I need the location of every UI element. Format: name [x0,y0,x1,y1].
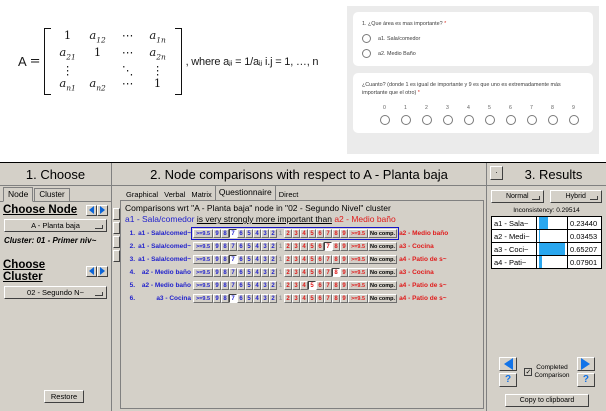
scale-cell[interactable]: 8 [332,268,340,277]
scale-cell[interactable]: 3 [261,242,269,251]
scale-cell[interactable]: No comp. [368,281,397,290]
choose-cluster-header: Choose Cluster [0,257,111,283]
matrix-cell: ⋯ [113,46,143,63]
scale-cell[interactable]: 6 [237,268,245,277]
scale-cell[interactable]: 4 [300,268,308,277]
scale-cell[interactable]: 7 [324,242,332,251]
scale-cell[interactable]: No comp. [368,268,397,277]
results-type-select[interactable]: Hybrid [550,190,603,203]
radio-icon[interactable] [401,115,411,125]
scale-cell[interactable]: 7 [324,255,332,264]
scale-cell[interactable]: 7 [229,255,237,264]
scale-cell[interactable]: 3 [261,255,269,264]
result-bar [539,243,565,255]
row-left-node: a1 - Sala/comed~ [135,227,191,240]
row-right-node: a4 - Patio de s~ [399,279,448,292]
scale-cell-equal[interactable]: 1 [277,229,284,238]
matrix-cell: an2 [83,77,113,94]
row-right-node: a4 - Patio de s~ [399,292,448,305]
scale-cell[interactable]: 9 [213,294,221,303]
scale-cell[interactable]: 9 [213,242,221,251]
radio-icon[interactable] [422,115,432,125]
scale-cell[interactable]: 4 [300,281,308,290]
scale-label: 2 [416,105,437,111]
matrix-cell: ⋯ [113,77,143,94]
arrow-left-icon [504,358,513,370]
scale-cell[interactable]: 6 [316,242,324,251]
row-scale: >=9.598765432123456789>=9.5No comp. [191,240,399,253]
scale-cell[interactable]: 4 [300,229,308,238]
scale-label: 3 [437,105,458,111]
scale-cell[interactable]: 7 [324,268,332,277]
scale-cell[interactable]: >=9.5 [348,281,368,290]
scale-cell-equal[interactable]: 1 [277,242,284,251]
statement-relation: is very strongly more important than [197,214,332,224]
scale-cell[interactable]: 3 [292,255,300,264]
scale-cell[interactable]: 4 [253,229,261,238]
panel-body: Node Cluster Choose Node A - Planta baja… [0,186,606,411]
scale-cell[interactable]: 2 [269,281,277,290]
scale-cell[interactable]: 6 [237,294,245,303]
results-type-value: Hybrid [566,193,586,200]
matrix: 1 a12 ⋯ a1n a21 1 ⋯ a2n ⋮ ⋱ [44,28,182,95]
scale-cell[interactable]: 2 [284,255,292,264]
question-mark-left-icon: ? [505,375,511,385]
radio-icon[interactable] [380,115,390,125]
scale-cell[interactable]: 6 [316,281,324,290]
scale-cell[interactable]: 9 [340,229,348,238]
statement-right-node: a2 - Medio baño [334,214,395,224]
tab-matrix[interactable]: Matrix [188,189,214,200]
scale-cell[interactable]: 9 [340,294,348,303]
dropdown-handle-icon [532,196,540,200]
scale-cell[interactable]: 5 [308,229,316,238]
results-selects: Normal Hybrid [491,190,602,203]
scale-cell[interactable]: 3 [261,229,269,238]
bracket-left [44,28,51,95]
scale-cell[interactable]: 2 [269,255,277,264]
comparison-statement-line: a1 - Sala/comedor is very strongly more … [121,213,483,226]
checkbox-icon[interactable]: ✓ [524,368,532,376]
scale-cell[interactable]: 5 [245,229,253,238]
scale-cell[interactable]: 7 [229,242,237,251]
row-right-node: a4 - Patio de s~ [399,253,448,266]
table-row: 1.a1 - Sala/comed~>=9.598765432123456789… [123,227,448,240]
scale-cell[interactable]: 2 [284,294,292,303]
scale-cell[interactable]: 8 [221,255,229,264]
scale-cell[interactable]: 6 [237,281,245,290]
scale-cell[interactable]: 2 [284,268,292,277]
table-row: 4.a2 - Medio baño>=9.598765432123456789>… [123,266,448,279]
scale-cell[interactable]: 2 [269,268,277,277]
minimize-button[interactable]: · [490,166,503,180]
scale-strip: >=9.598765432123456789>=9.5No comp. [191,240,399,253]
scale-cell[interactable]: >=9.5 [348,229,368,238]
dropdown-handle-icon [95,292,103,296]
choose-panel: Node Cluster Choose Node A - Planta baja… [0,186,112,411]
matrix-row: ⋮ ⋱ ⋮ [53,64,173,77]
scale-cell[interactable]: 6 [316,294,324,303]
row-left-node: a3 - Cocina [135,292,191,305]
scale-cell[interactable]: 4 [253,294,261,303]
current-cluster-note: Cluster: 01 - Primer niv~ [4,236,107,245]
scale-cell[interactable]: 6 [316,255,324,264]
row-right-node: a3 - Cocina [399,266,448,279]
panel-headers: 1. Choose 2. Node comparisons with respe… [0,163,606,186]
results-mode-select[interactable]: Normal [491,190,544,203]
scale-cell[interactable]: 4 [300,242,308,251]
scale-cell[interactable]: >=9.5 [193,268,213,277]
tab-node[interactable]: Node [3,187,33,202]
scale-cell[interactable]: 5 [308,268,316,277]
scale-cell[interactable]: 7 [229,268,237,277]
formula-where-clause: , where aⱼᵢ = 1/aᵢⱼ i.j = 1, …, n [186,55,319,68]
tab-cluster[interactable]: Cluster [34,188,69,201]
scale-radio-cell[interactable] [563,115,584,125]
scale-cell[interactable]: 5 [245,255,253,264]
radio-icon[interactable] [506,115,516,125]
scale-cell[interactable]: >=9.5 [348,268,368,277]
scale-cell[interactable]: 9 [340,281,348,290]
scale-cell[interactable]: 3 [292,268,300,277]
scale-cell[interactable]: 5 [245,268,253,277]
result-value: 0.03453 [568,230,602,243]
scale-cell[interactable]: No comp. [368,294,397,303]
matrix-cell: an1 [53,77,83,94]
scale-cell[interactable]: >=9.5 [193,255,213,264]
scale-cell[interactable]: 5 [245,281,253,290]
superdecisions-window: 1. Choose 2. Node comparisons with respe… [0,162,606,411]
scale-cell[interactable]: >=9.5 [193,281,213,290]
result-value: 0.07901 [568,256,602,269]
scale-label: 5 [479,105,500,111]
result-name: a2 - Medi~ [492,230,537,243]
choose-node-label: Choose Node [3,204,77,216]
row-number: 4. [123,266,135,279]
scale-cell[interactable]: 9 [340,268,348,277]
scale-cell[interactable]: 6 [316,229,324,238]
tab-graphical[interactable]: Graphical [123,189,161,200]
scale-cell[interactable]: 2 [269,294,277,303]
scale-cell[interactable]: 6 [237,229,245,238]
scale-radio-cell[interactable] [542,115,563,125]
survey-form: 1. ¿Que área es mas importante? * a1. Sa… [347,6,599,154]
scale-strip: >=9.598765432123456789>=9.5No comp. [191,266,399,279]
scale-cell[interactable]: 7 [229,281,237,290]
cluster-nav-arrows [86,266,108,277]
survey-option-a2[interactable]: a2. Medio Baño [362,49,584,58]
result-name: a4 - Pati~ [492,256,537,269]
scale-cell[interactable]: 3 [292,281,300,290]
restore-button[interactable]: Restore [44,390,84,403]
matrix-cell: a1n [143,29,173,46]
gutter-button[interactable] [113,222,120,234]
equals-sign: = [30,54,41,69]
scale-radio-cell[interactable] [479,115,500,125]
scale-cell[interactable]: 2 [284,242,292,251]
scale-cell[interactable]: 5 [308,255,316,264]
scale-cell[interactable]: 7 [324,294,332,303]
question-mark-right-icon: ? [583,375,589,385]
survey-option-a1-label: a1. Sala/comedor [378,36,420,42]
matrix-cell: 1 [53,29,83,46]
scale-cell[interactable]: >=9.5 [193,242,213,251]
scale-cell[interactable]: 9 [340,255,348,264]
scale-label: 6 [500,105,521,111]
scale-cell-equal[interactable]: 1 [277,255,284,264]
scale-cell[interactable]: >=9.5 [348,255,368,264]
completed-comparison-checkbox[interactable]: ✓ Completed Comparison [524,364,569,380]
scale-cell-equal[interactable]: 1 [277,281,284,290]
scale-cell-equal[interactable]: 1 [277,268,284,277]
scale-cell[interactable]: 8 [332,281,340,290]
tab-questionnaire[interactable]: Questionnaire [215,185,276,200]
scale-radio-cell[interactable] [437,115,458,125]
panel-header-choose: 1. Choose [0,163,112,185]
matrix-rows: 1 a12 ⋯ a1n a21 1 ⋯ a2n ⋮ ⋱ [51,28,175,95]
row-left-node: a1 - Sala/comed~ [135,253,191,266]
row-number: 3. [123,253,135,266]
scale-label: 4 [458,105,479,111]
choose-tabstrip: Node Cluster [0,186,111,202]
matrix-cell: ⋮ [143,64,173,77]
matrix-cell: 1 [83,46,113,63]
required-asterisk: * [418,90,420,96]
node-select-value: A - Planta baja [31,221,80,230]
panel-header-results-label: 3. Results [525,167,583,182]
scale-cell[interactable]: >=9.5 [193,229,213,238]
comparison-questionnaire: Comparisons wrt "A - Planta baja" node i… [120,200,484,409]
row-scale: >=9.598765432123456789>=9.5No comp. [191,253,399,266]
gutter-button[interactable] [113,236,120,248]
results-table: a1 - Sala~0.23440a2 - Medi~0.03453a3 - C… [491,216,602,269]
scale-cell[interactable]: 4 [300,294,308,303]
scale-cell[interactable]: 8 [221,268,229,277]
scale-radio-cell[interactable] [500,115,521,125]
radio-icon[interactable] [548,115,558,125]
table-row: 5.a2 - Medio baño>=9.598765432123456789>… [123,279,448,292]
arrow-right-icon [100,206,105,214]
scale-cell[interactable]: 4 [253,268,261,277]
next-comparison-button[interactable] [577,357,595,371]
question1-text: 1. ¿Que área es mas importante? [362,21,443,27]
scale-cell[interactable]: 9 [213,281,221,290]
scale-cell[interactable]: 5 [245,242,253,251]
cluster-prev-button[interactable] [86,266,97,277]
survey-option-a1[interactable]: a1. Sala/comedor [362,34,584,43]
scale-cell[interactable]: 5 [308,281,316,290]
result-bar [539,230,540,242]
question2-text: ¿Cuanto? (donde 1 es igual de importante… [362,82,561,96]
radio-icon[interactable] [443,115,453,125]
comparison-table: 1.a1 - Sala/comed~>=9.598765432123456789… [123,227,448,305]
scale-cell[interactable]: 8 [221,242,229,251]
scale-cell[interactable]: 6 [237,255,245,264]
survey-question-1-card: 1. ¿Que área es mas importante? * a1. Sa… [353,12,593,66]
prev-help-button[interactable]: ? [499,373,517,387]
radio-icon[interactable] [485,115,495,125]
scale-strip: >=9.598765432123456789>=9.5No comp. [191,227,399,240]
scale-radio-cell[interactable] [395,115,416,125]
scale-cell[interactable]: 7 [229,294,237,303]
scale-cell[interactable]: 6 [237,242,245,251]
scale-cell[interactable]: 6 [316,268,324,277]
result-bar [539,256,542,268]
matrix-cell: ⋮ [53,64,83,77]
scale-cell[interactable]: No comp. [368,242,397,251]
cluster-next-button[interactable] [97,266,108,277]
comparison-side-gutter [112,186,120,411]
scale-cell[interactable]: 3 [292,229,300,238]
completed-comparison-label: Completed Comparison [534,364,569,380]
scale-cell[interactable]: 3 [292,294,300,303]
matrix-row: a21 1 ⋯ a2n [53,46,173,63]
scale-cell[interactable]: >=9.5 [193,294,213,303]
gutter-button[interactable] [113,250,120,262]
scale-cell[interactable]: 9 [340,242,348,251]
scale-cell[interactable]: 7 [324,229,332,238]
nav-left-column: ? [499,357,517,387]
scale-strip: >=9.598765432123456789>=9.5No comp. [191,253,399,266]
matrix-symbol-A: A [18,54,27,69]
scale-label: 1 [395,105,416,111]
scale-cell[interactable]: 4 [253,255,261,264]
scale-cell[interactable]: 8 [221,294,229,303]
scale-cell[interactable]: 3 [292,242,300,251]
scale-strip: >=9.598765432123456789>=9.5No comp. [191,279,399,292]
scale-cell[interactable]: 9 [213,268,221,277]
scale-cell[interactable]: 4 [253,281,261,290]
node-prev-button[interactable] [86,205,97,216]
scale-cell[interactable]: 3 [261,281,269,290]
scale-label: 0 [374,105,395,111]
panel-header-comparisons: 2. Node comparisons with respect to A - … [112,163,487,185]
scale-cell[interactable]: 5 [308,242,316,251]
scale-cell[interactable]: 7 [229,229,237,238]
radio-icon[interactable] [362,49,371,58]
scale-cell[interactable]: 3 [261,268,269,277]
scale-cell[interactable]: 4 [300,255,308,264]
scale-radio-cell[interactable] [521,115,542,125]
scale-cell[interactable]: >=9.5 [348,294,368,303]
comparison-panel: Graphical Verbal Matrix Questionnaire Di… [112,186,487,411]
next-help-button[interactable]: ? [577,373,595,387]
scale-cell[interactable]: 8 [332,255,340,264]
result-bar [539,217,548,229]
scale-label: 7 [521,105,542,111]
scale-cell[interactable]: 8 [332,229,340,238]
dropdown-handle-icon [590,196,598,200]
result-bar-cell [537,217,568,230]
gutter-button[interactable] [113,208,120,220]
table-row: a3 - Coci~0.65207 [492,243,602,256]
scale-strip: >=9.598765432123456789>=9.5No comp. [191,292,399,305]
matrix-cell: 1 [143,77,173,94]
scale-cell[interactable]: >=9.5 [348,242,368,251]
results-panel: Normal Hybrid Inconsistency: 0.29514 a1 … [487,186,606,411]
scale-label: 8 [542,105,563,111]
scale-cell[interactable]: No comp. [368,229,397,238]
matrix-cell: ⋱ [113,64,143,77]
scale-cell[interactable]: 8 [332,242,340,251]
matrix-row: 1 a12 ⋯ a1n [53,29,173,46]
scale-cell[interactable]: 2 [269,242,277,251]
radio-icon[interactable] [527,115,537,125]
scale-cell[interactable]: 2 [284,281,292,290]
nav-right-column: ? [577,357,595,387]
matrix-row: an1 an2 ⋯ 1 [53,77,173,94]
row-right-node: a2 - Medio baño [399,227,448,240]
radio-icon[interactable] [569,115,579,125]
scale-cell[interactable]: 5 [308,294,316,303]
scale-label: 9 [563,105,584,111]
scale-cell[interactable]: 2 [269,229,277,238]
scale-cell[interactable]: 4 [253,242,261,251]
result-bar-cell [537,256,568,269]
scale-cell[interactable]: 7 [324,281,332,290]
node-select[interactable]: A - Planta baja [4,219,107,232]
arrow-right-icon [100,267,105,275]
results-mode-value: Normal [506,193,529,200]
inconsistency-value: Inconsistency: 0.29514 [491,207,602,214]
scale-cell[interactable]: 9 [213,255,221,264]
scale-radio-cell[interactable] [374,115,395,125]
row-scale: >=9.598765432123456789>=9.5No comp. [191,279,399,292]
comparison-mode-tabs: Graphical Verbal Matrix Questionnaire Di… [120,186,486,200]
copy-to-clipboard-button[interactable]: Copy to clipboard [505,394,589,407]
tab-verbal[interactable]: Verbal [161,189,188,200]
required-asterisk: * [444,21,446,27]
scale-cell[interactable]: 8 [332,294,340,303]
scale-cell[interactable]: 5 [245,294,253,303]
scale-cell[interactable]: 2 [284,229,292,238]
choose-node-header: Choose Node [0,202,111,216]
cluster-select[interactable]: 02 - Segundo N~ [4,286,107,299]
node-next-button[interactable] [97,205,108,216]
survey-question-2-title: ¿Cuanto? (donde 1 es igual de importante… [362,81,584,97]
matrix-cell: a21 [53,46,83,63]
row-number: 2. [123,240,135,253]
tab-direct[interactable]: Direct [276,189,302,200]
scale-cell[interactable]: 9 [213,229,221,238]
prev-comparison-button[interactable] [499,357,517,371]
row-number: 5. [123,279,135,292]
row-scale: >=9.598765432123456789>=9.5No comp. [191,266,399,279]
scale-radio-cell[interactable] [458,115,479,125]
table-row: 3.a1 - Sala/comed~>=9.598765432123456789… [123,253,448,266]
scale-cell[interactable]: 8 [221,229,229,238]
scale-cell[interactable]: 3 [261,294,269,303]
node-nav-arrows [86,205,108,216]
row-scale: >=9.598765432123456789>=9.5No comp. [191,292,399,305]
result-name: a3 - Coci~ [492,243,537,256]
scale-cell[interactable]: 8 [221,281,229,290]
table-row: 6.a3 - Cocina>=9.598765432123456789>=9.5… [123,292,448,305]
result-value: 0.23440 [568,217,602,230]
scale-cell-equal[interactable]: 1 [277,294,284,303]
survey-question-2-card: ¿Cuanto? (donde 1 es igual de importante… [353,73,593,133]
radio-icon[interactable] [362,34,371,43]
table-row: a1 - Sala~0.23440 [492,217,602,230]
choose-cluster-label: Choose Cluster [3,259,86,283]
matrix-cell: a12 [83,29,113,46]
scale-cell[interactable]: No comp. [368,255,397,264]
dropdown-handle-icon [95,225,103,229]
result-bar-cell [537,243,568,256]
scale-radio-cell[interactable] [416,115,437,125]
pairwise-matrix-formula: A = 1 a12 ⋯ a1n a21 1 ⋯ a2n [18,28,328,95]
radio-icon[interactable] [464,115,474,125]
